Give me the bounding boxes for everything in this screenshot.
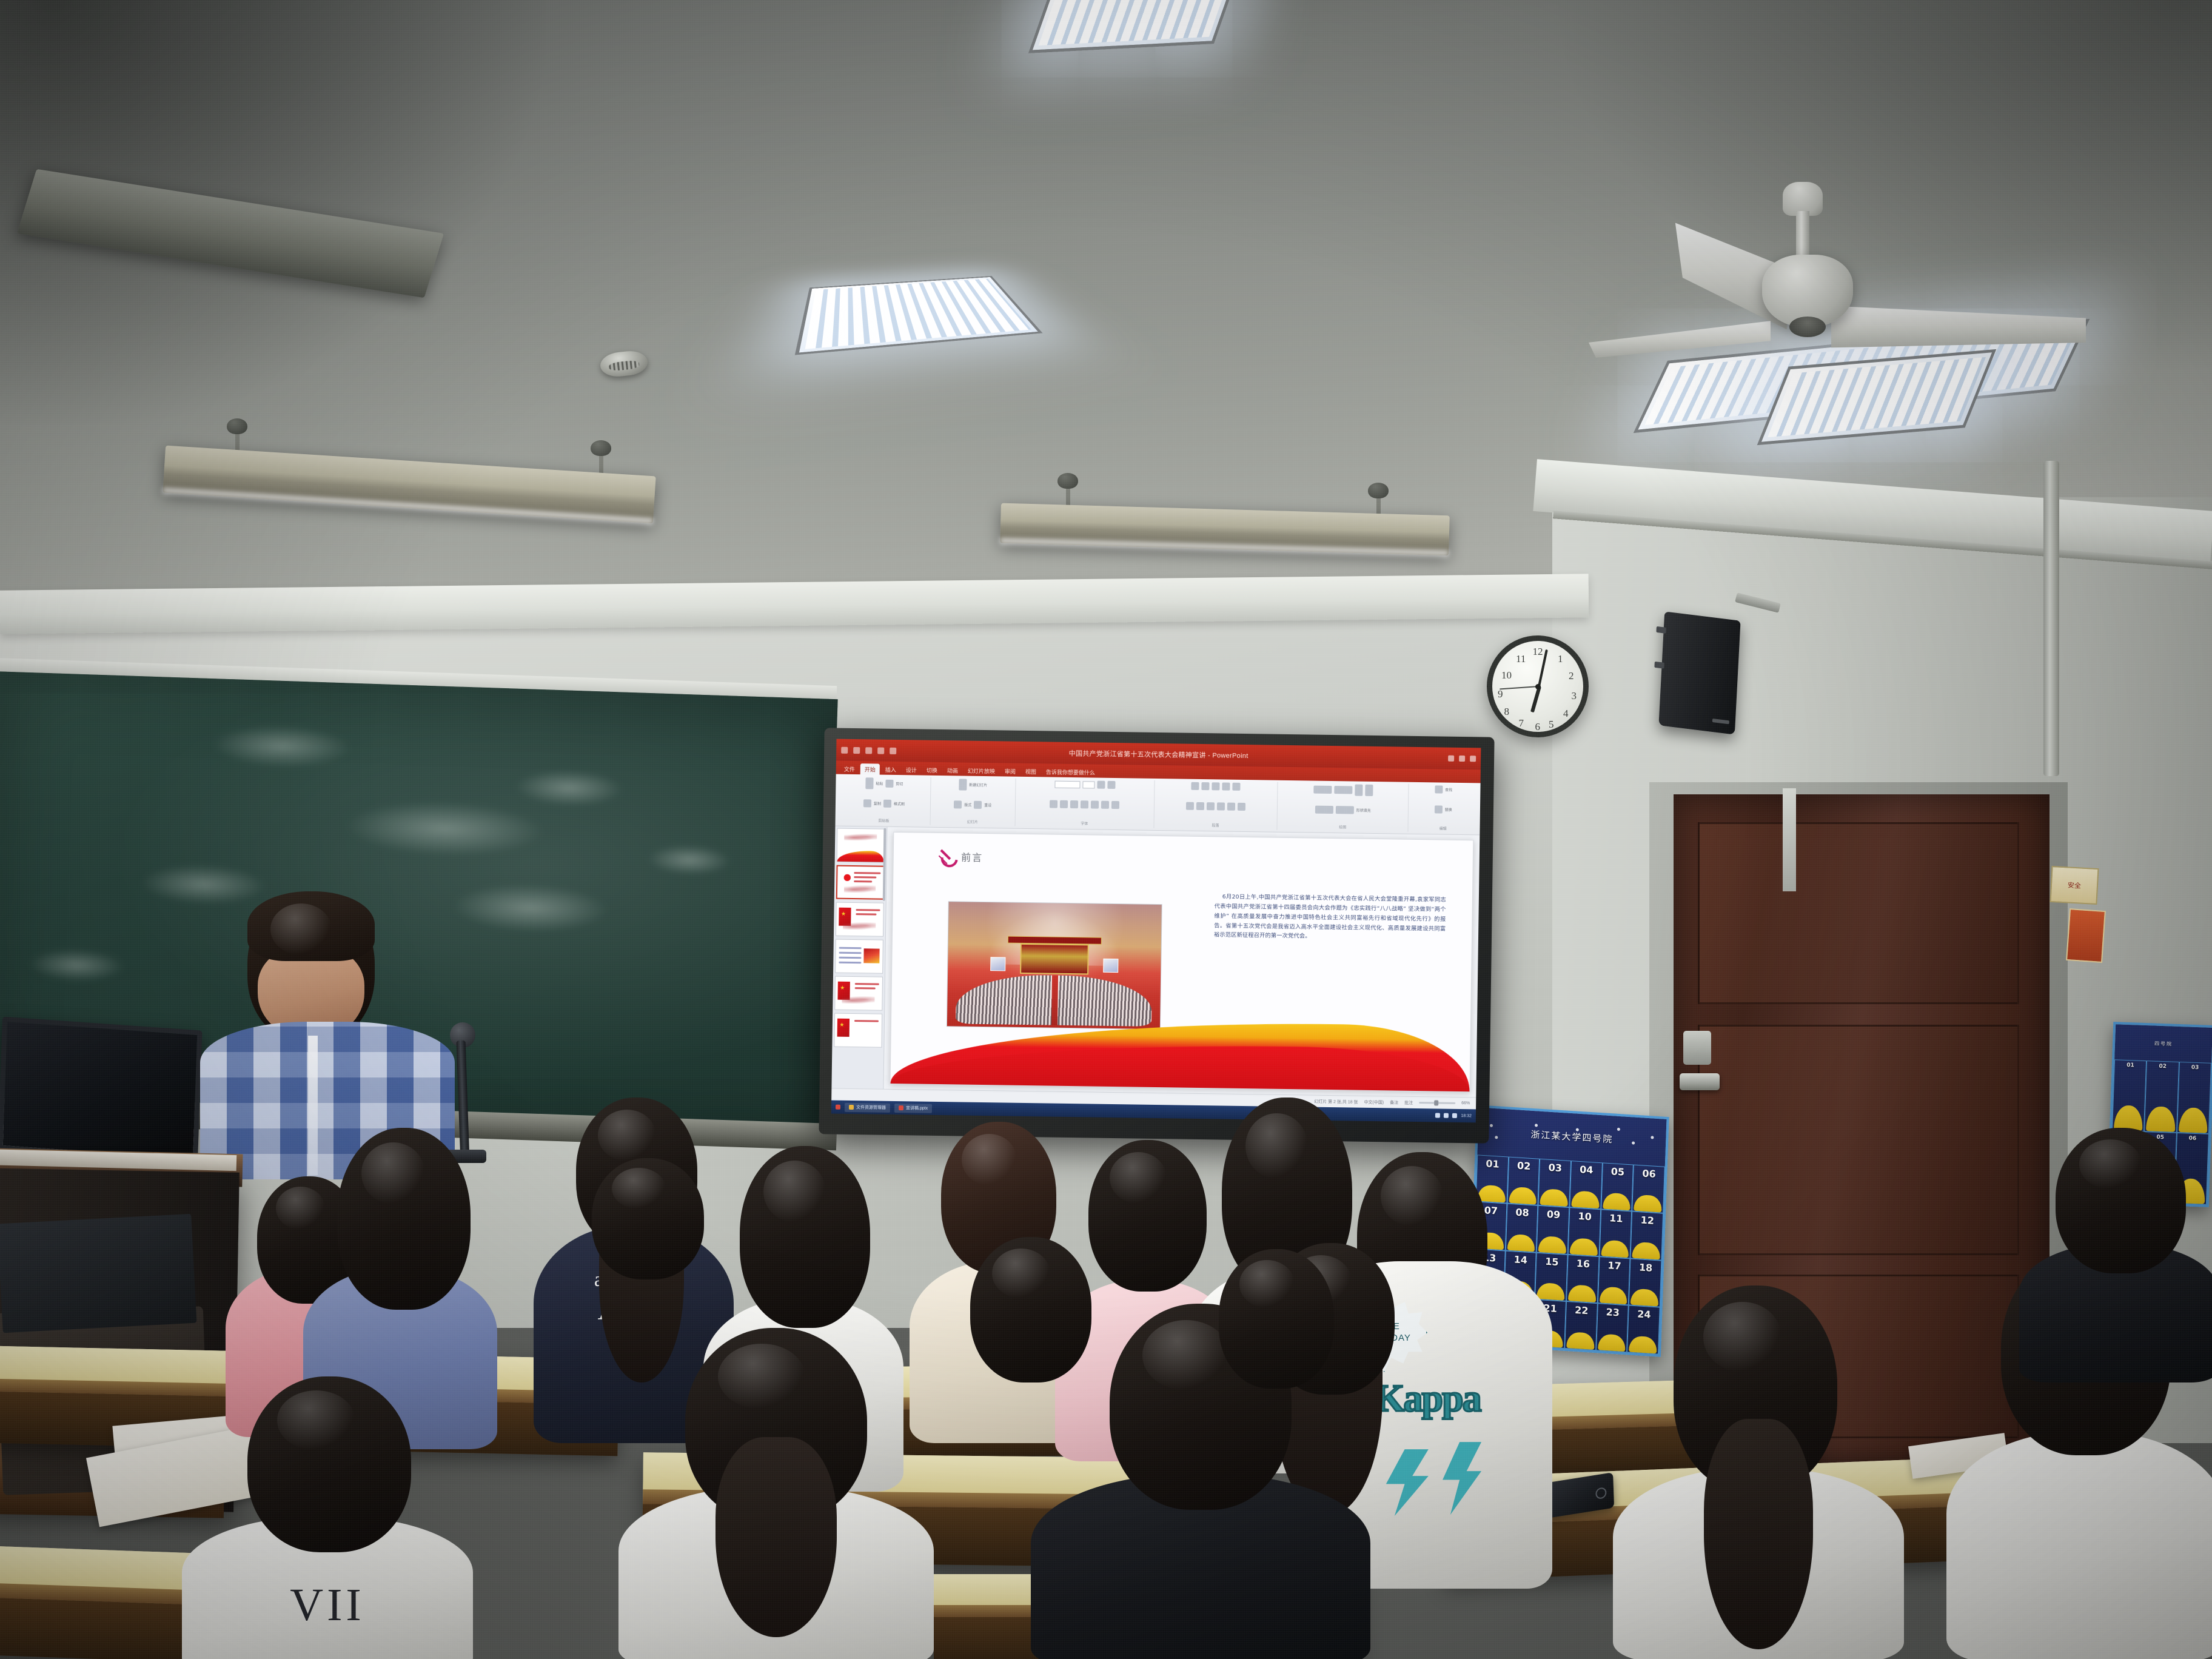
tab-review[interactable]: 审阅	[1000, 765, 1020, 776]
clock-numeral: 6	[1535, 721, 1541, 733]
font-size-field[interactable]	[1082, 781, 1094, 788]
student	[2019, 1128, 2212, 1382]
slide-thumbnail[interactable]	[834, 976, 883, 1011]
clock-numeral: 10	[1501, 669, 1512, 682]
notes-button[interactable]: 备注	[1390, 1099, 1398, 1105]
fan-blade	[1589, 318, 1771, 358]
fan-motor-hub	[1762, 255, 1853, 327]
cpc-hammer-sickle-emblem-icon	[940, 848, 956, 864]
shapes-gallery-icon[interactable]	[1334, 786, 1352, 794]
student-head	[970, 1237, 1091, 1382]
classroom-photo-scene: 12 1 2 3 4 5 6 7 8 9 10 11 安全	[0, 0, 2212, 1659]
columns-icon[interactable]	[1227, 803, 1235, 811]
light-rod-knob	[1057, 473, 1078, 489]
input-method-icon[interactable]	[1435, 1113, 1440, 1118]
light-rod-knob	[227, 418, 247, 434]
light-rod-knob	[591, 440, 611, 456]
text-direction-icon[interactable]	[1238, 803, 1245, 811]
hall-side-screen	[990, 957, 1005, 971]
tab-home[interactable]: 开始	[860, 763, 880, 774]
slide-thumbnail-panel[interactable]	[831, 826, 887, 1089]
increase-font-icon[interactable]	[1097, 781, 1105, 789]
clock-second-hand	[1500, 686, 1538, 689]
tab-insert[interactable]: 插入	[881, 764, 900, 775]
slide-photo-congress-hall	[947, 901, 1162, 1030]
cut-icon[interactable]	[885, 780, 893, 788]
arrange-icon[interactable]	[1355, 785, 1362, 796]
taskbar-clock[interactable]: 18:32	[1461, 1114, 1472, 1118]
tab-tell-me[interactable]: 告诉我你想要做什么	[1042, 766, 1099, 777]
font-color-icon[interactable]	[1111, 801, 1119, 809]
pocket-slot[interactable]: 16	[1566, 1255, 1599, 1304]
tab-slideshow[interactable]: 幻灯片放映	[964, 765, 999, 777]
hall-stage	[1020, 943, 1088, 974]
ribbon-group-drawing[interactable]: 形状填充 绘图	[1278, 782, 1409, 832]
decrease-font-icon[interactable]	[1107, 781, 1115, 789]
tab-file[interactable]: 文件	[840, 763, 859, 774]
door-lock-icon[interactable]	[1683, 1031, 1711, 1065]
pocket-slot[interactable]: 03	[2177, 1062, 2211, 1134]
pocket-slot[interactable]: 22	[1564, 1301, 1597, 1350]
interactive-smart-board[interactable]: 中国共产党浙江省第十五次代表大会精神宣讲 - PowerPoint 文件 开始 …	[819, 728, 1494, 1143]
shapes-gallery-icon[interactable]	[1313, 786, 1332, 794]
pocket-slot[interactable]: 11	[1599, 1209, 1632, 1258]
wall-speaker	[1658, 611, 1740, 734]
ribbon-group-label: 绘图	[1339, 824, 1346, 829]
folder-icon	[849, 1105, 854, 1110]
shirt-text-roman-numeral: VII	[182, 1579, 473, 1632]
hall-center-aisle	[1051, 975, 1059, 1025]
align-center-icon[interactable]	[1196, 802, 1204, 810]
hall-side-screen	[1103, 959, 1118, 973]
pocket-slot[interactable]: 03	[1538, 1158, 1571, 1207]
fan-blade	[1831, 301, 2086, 352]
slide-thumbnail-selected[interactable]	[836, 865, 885, 900]
pocket-slot[interactable]: 01	[2112, 1060, 2147, 1132]
ribbon-group-slides[interactable]: 新建幻灯片 版式 重设 幻灯片	[930, 777, 1016, 826]
slide-title: 前言	[961, 849, 983, 864]
student: VII	[182, 1376, 473, 1659]
comments-button[interactable]: 批注	[1404, 1099, 1413, 1105]
clock-numeral: 2	[1569, 670, 1574, 682]
ribbon-group-font[interactable]: 字体	[1015, 779, 1155, 828]
student	[1219, 1249, 1334, 1389]
slide-thumbnail[interactable]	[834, 1013, 882, 1048]
speaker-bracket	[1656, 626, 1666, 634]
volume-icon[interactable]	[1452, 1113, 1457, 1118]
new-slide-icon[interactable]	[959, 779, 967, 790]
strikethrough-icon[interactable]	[1091, 800, 1099, 808]
student-head	[740, 1146, 870, 1328]
pocket-slot[interactable]: 02	[2144, 1061, 2179, 1133]
wall-clock: 12 1 2 3 4 5 6 7 8 9 10 11	[1487, 635, 1589, 737]
slide-thumbnail[interactable]	[835, 939, 883, 974]
thumbnail-scrollbar[interactable]	[883, 828, 886, 901]
replace-icon[interactable]	[1435, 805, 1443, 813]
kappa-lightning-bolt	[1443, 1442, 1481, 1515]
ceiling-fan	[1589, 182, 2074, 437]
align-right-icon[interactable]	[1207, 802, 1215, 810]
shape-outline-icon[interactable]	[1336, 806, 1354, 814]
student	[970, 1237, 1091, 1382]
student	[1613, 1285, 1904, 1659]
align-left-icon[interactable]	[1186, 802, 1194, 810]
pocket-slot[interactable]: 06	[1632, 1164, 1665, 1213]
zoom-level[interactable]: 66%	[1461, 1101, 1470, 1105]
presenter-head	[247, 891, 375, 1043]
decrease-indent-icon[interactable]	[1212, 782, 1220, 790]
pocket-slot[interactable]: 04	[1569, 1161, 1602, 1210]
system-tray[interactable]: 18:32	[1435, 1113, 1472, 1118]
podium-monitor	[0, 1017, 203, 1164]
character-spacing-icon[interactable]	[1101, 801, 1109, 809]
ribbon-group-clipboard[interactable]: 粘贴 剪切 复制 格式刷 剪贴板	[838, 776, 931, 825]
clock-hour-hand	[1530, 686, 1541, 712]
paste-icon[interactable]	[865, 777, 873, 789]
zoom-slider[interactable]	[1419, 1102, 1455, 1104]
search-icon[interactable]	[1435, 785, 1443, 793]
ribbon-group-label: 剪贴板	[878, 818, 889, 823]
powerpoint-icon	[899, 1105, 903, 1110]
clock-numeral: 4	[1563, 708, 1569, 720]
student-ponytail	[716, 1437, 837, 1637]
clock-numeral: 3	[1572, 690, 1577, 702]
clock-numeral: 12	[1533, 646, 1543, 658]
wall-sign-fire-equipment	[2066, 908, 2106, 963]
pocket-slot[interactable]: 12	[1631, 1212, 1663, 1261]
laptop	[0, 1214, 196, 1333]
layout-icon[interactable]	[954, 800, 962, 808]
student-top	[1946, 1431, 2212, 1659]
copy-icon[interactable]	[863, 799, 871, 807]
wall-conduit	[2043, 461, 2059, 776]
smart-board-screen[interactable]: 中国共产党浙江省第十五次代表大会精神宣讲 - PowerPoint 文件 开始 …	[831, 739, 1481, 1123]
door-handle[interactable]	[1680, 1073, 1720, 1090]
current-slide[interactable]: 前言 6月20日上午,中国共产党浙江省第十五次代表大会在省人民大会堂隆重开幕,袁…	[890, 832, 1474, 1092]
powerpoint-workspace: 前言 6月20日上午,中国共产党浙江省第十五次代表大会在省人民大会堂隆重开幕,袁…	[831, 826, 1480, 1098]
presenter-hair	[247, 891, 375, 961]
wall-sign-safety: 安全	[2049, 866, 2099, 905]
pocket-slot[interactable]: 05	[1601, 1162, 1634, 1212]
underline-icon[interactable]	[1070, 800, 1078, 808]
quick-styles-icon[interactable]	[1365, 785, 1373, 796]
ribbon-group-paragraph[interactable]: 段落	[1154, 780, 1278, 830]
slide-title-group[interactable]: 前言	[940, 848, 983, 865]
document-title: 中国共产党浙江省第十五次代表大会精神宣讲 - PowerPoint	[836, 745, 1481, 764]
slide-thumbnail[interactable]	[837, 828, 885, 863]
format-painter-icon[interactable]	[883, 800, 891, 808]
taskbar-item-explorer[interactable]: 文件资源管理器	[845, 1102, 890, 1112]
ribbon-group-editing[interactable]: 查找 替换 编辑	[1409, 784, 1478, 833]
student-head	[337, 1128, 471, 1310]
italic-icon[interactable]	[1060, 800, 1068, 808]
ribbon-group-label: 段落	[1212, 822, 1219, 828]
light-rod-knob	[1368, 483, 1389, 498]
pocket-board-header: 四号院	[2114, 1024, 2212, 1063]
clock-numeral: 1	[1558, 653, 1563, 665]
slide-editing-area[interactable]: 前言 6月20日上午,中国共产党浙江省第十五次代表大会在省人民大会堂隆重开幕,袁…	[883, 827, 1480, 1098]
tab-view[interactable]: 视图	[1021, 766, 1041, 777]
tab-design[interactable]: 设计	[902, 764, 921, 775]
student-ponytail	[1704, 1419, 1813, 1649]
clock-center-pin	[1535, 684, 1541, 689]
tab-animations[interactable]: 动画	[943, 765, 962, 776]
clock-numeral: 5	[1549, 719, 1554, 731]
door-trim	[1783, 788, 1796, 891]
slide-body-text: 6月20日上午,中国共产党浙江省第十五次代表大会在省人民大会堂隆重开幕,袁家军同…	[1214, 892, 1446, 943]
student-head	[247, 1376, 411, 1552]
student	[618, 1328, 934, 1659]
font-name-field[interactable]	[1054, 780, 1080, 788]
door-panel	[1698, 822, 2019, 1004]
clock-numeral: 8	[1504, 706, 1510, 718]
clock-numeral: 11	[1516, 653, 1526, 665]
numbering-icon[interactable]	[1202, 782, 1210, 790]
ribbon[interactable]: 粘贴 剪切 复制 格式刷 剪贴板 新建幻灯片	[835, 774, 1480, 836]
bullets-icon[interactable]	[1191, 782, 1199, 790]
ribbon-group-label: 字体	[1081, 820, 1088, 826]
bold-icon[interactable]	[1050, 800, 1057, 808]
student-head	[592, 1158, 704, 1279]
slide-thumbnail[interactable]	[836, 902, 884, 937]
clock-numeral: 9	[1498, 688, 1503, 700]
clock-numeral: 7	[1519, 717, 1524, 729]
reset-icon[interactable]	[974, 801, 982, 809]
taskbar-item-powerpoint[interactable]: 宣讲稿.pptx	[894, 1103, 932, 1113]
text-shadow-icon[interactable]	[1081, 800, 1088, 808]
kappa-lightning-bolt	[1386, 1449, 1429, 1516]
student-head	[1219, 1249, 1334, 1389]
shape-fill-icon[interactable]	[1315, 806, 1333, 814]
increase-indent-icon[interactable]	[1222, 782, 1230, 790]
tab-transitions[interactable]: 切换	[922, 765, 942, 776]
start-button-icon[interactable]	[836, 1105, 840, 1110]
line-spacing-icon[interactable]	[1233, 783, 1241, 791]
pocket-slot[interactable]: 10	[1568, 1207, 1601, 1256]
ribbon-group-label: 幻灯片	[967, 819, 978, 825]
pocket-slot[interactable]: 09	[1537, 1205, 1569, 1255]
network-icon[interactable]	[1444, 1113, 1449, 1118]
ribbon-group-label: 编辑	[1439, 825, 1447, 831]
door-panel	[1698, 1025, 2019, 1255]
student-head	[2056, 1128, 2186, 1273]
justify-icon[interactable]	[1217, 802, 1225, 810]
